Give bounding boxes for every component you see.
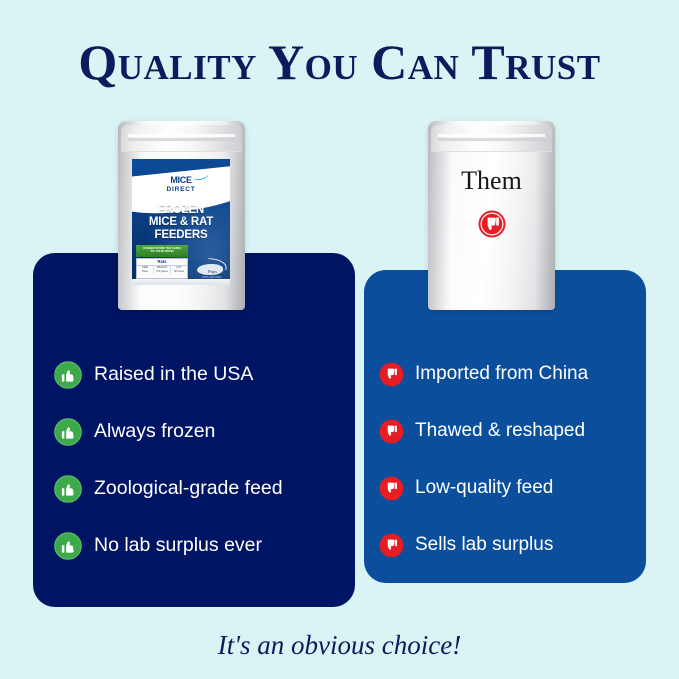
label-green-banner: RAISED FROM THE FARM TO YOUR DOOR bbox=[136, 245, 188, 257]
label-title-line-1: FROZEN bbox=[132, 204, 230, 216]
footer-tagline: It's an obvious choice! bbox=[0, 630, 679, 661]
bag-zipper-seal bbox=[121, 125, 242, 152]
thumbs-up-icon bbox=[54, 532, 82, 560]
spec-value-size: Pups bbox=[137, 270, 154, 274]
brand-logo-main: MICE bbox=[170, 175, 191, 185]
label-product-title: FROZEN MICE & RAT FEEDERS bbox=[132, 204, 230, 241]
list-item: Zoological-grade feed bbox=[54, 460, 344, 517]
list-item-label: No lab surplus ever bbox=[94, 535, 262, 556]
label-title-line-3: FEEDERS bbox=[132, 229, 230, 241]
thumbs-up-icon bbox=[54, 418, 82, 446]
list-item: Thawed & reshaped bbox=[379, 403, 641, 460]
bag-zipper-seal bbox=[431, 125, 552, 152]
thumbs-down-icon bbox=[477, 209, 507, 239]
brand-logo: MICE DIRECT bbox=[132, 171, 230, 194]
label-fine-print: CERTIFIED FROM THE FARM TO YOUR DOOR bbox=[132, 162, 230, 165]
theirs-drawback-list: Imported from China Thawed & reshaped bbox=[379, 346, 641, 574]
page-title: Quality You Can Trust bbox=[0, 36, 679, 89]
thumbs-up-icon bbox=[54, 361, 82, 389]
swoosh-icon bbox=[191, 170, 209, 182]
thumbs-down-icon bbox=[379, 533, 404, 558]
label-title-line-2: MICE & RAT bbox=[132, 216, 230, 228]
ours-product-bag: CERTIFIED FROM THE FARM TO YOUR DOOR MIC… bbox=[118, 121, 245, 310]
list-item-label: Thawed & reshaped bbox=[415, 421, 585, 442]
bag-body: CERTIFIED FROM THE FARM TO YOUR DOOR MIC… bbox=[118, 121, 245, 310]
bag-body: Them bbox=[428, 121, 555, 310]
list-item-label: Sells lab surplus bbox=[415, 535, 553, 556]
thumbs-up-icon bbox=[54, 475, 82, 503]
list-item: Low-quality feed bbox=[379, 460, 641, 517]
spec-value-qty: 50 count bbox=[171, 270, 187, 274]
list-item: Imported from China bbox=[379, 346, 641, 403]
thumbs-down-icon bbox=[379, 476, 404, 501]
list-item: No lab surplus ever bbox=[54, 517, 344, 574]
thumbs-down-icon bbox=[379, 362, 404, 387]
label-mouse-badge: Pups 100% NATURAL bbox=[188, 261, 226, 280]
thumbs-down-icon bbox=[379, 419, 404, 444]
brand-logo-sub: DIRECT bbox=[132, 187, 230, 194]
list-item-label: Raised in the USA bbox=[94, 364, 253, 385]
list-item: Sells lab surplus bbox=[379, 517, 641, 574]
list-item-label: Imported from China bbox=[415, 364, 588, 385]
list-item-label: Low-quality feed bbox=[415, 478, 553, 499]
label-spec-table: Rats SIZE WEIGHT QTY Pups 3-5 grams 50 c… bbox=[136, 258, 188, 279]
list-item-label: Always frozen bbox=[94, 421, 215, 442]
theirs-product-bag: Them bbox=[428, 121, 555, 310]
label-bottom-strip bbox=[132, 279, 230, 285]
list-item-label: Zoological-grade feed bbox=[94, 478, 283, 499]
ours-benefit-list: Raised in the USA Always frozen bbox=[54, 346, 344, 574]
product-label: CERTIFIED FROM THE FARM TO YOUR DOOR MIC… bbox=[132, 159, 230, 285]
badge-word: Pups bbox=[208, 269, 217, 274]
spec-table-value-row: Pups 3-5 grams 50 count bbox=[137, 270, 187, 274]
green-banner-line-2: TO YOUR DOOR bbox=[136, 250, 188, 254]
comparison-infographic: Quality You Can Trust CERTIFIED FROM THE… bbox=[0, 0, 679, 679]
theirs-bag-title: Them bbox=[428, 168, 555, 194]
list-item: Raised in the USA bbox=[54, 346, 344, 403]
list-item: Always frozen bbox=[54, 403, 344, 460]
spec-value-weight: 3-5 grams bbox=[154, 270, 171, 274]
